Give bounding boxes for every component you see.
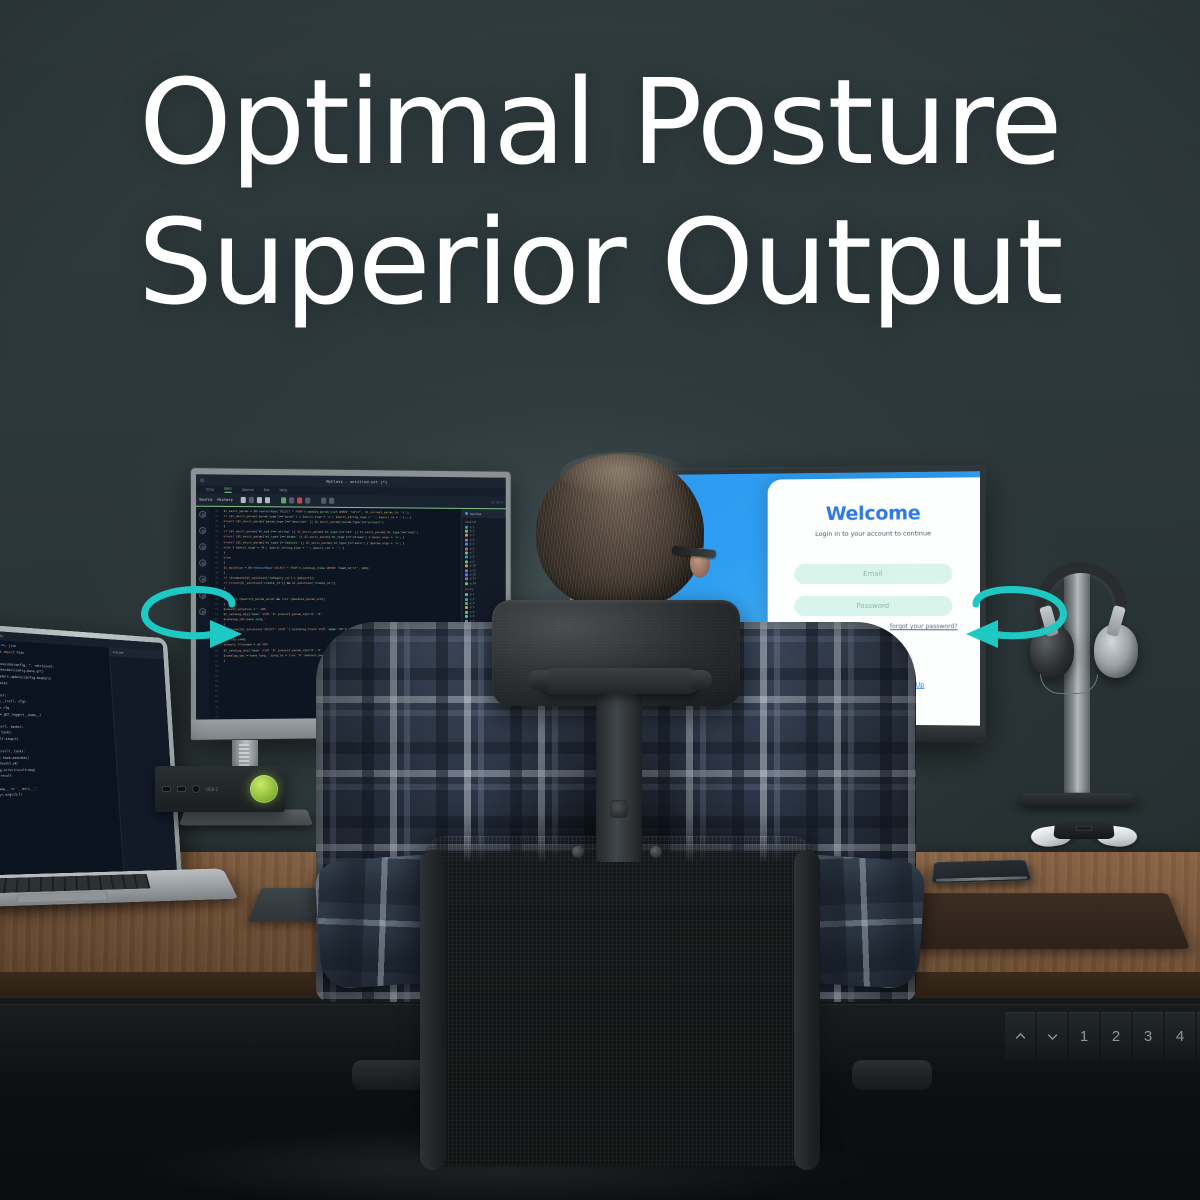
chevron-up-icon <box>1013 1029 1028 1044</box>
patch-color-swatch <box>465 547 468 550</box>
patch-label: p_10 <box>470 565 476 568</box>
headline-line-2: Superior Output <box>0 192 1200 332</box>
patch-color-swatch <box>465 611 468 614</box>
laptop-keyboard[interactable] <box>0 874 150 894</box>
search-icon[interactable] <box>199 543 206 550</box>
ide-menu-file[interactable]: File <box>206 488 214 492</box>
step-over-icon[interactable] <box>321 498 326 504</box>
desk-preset-2[interactable]: 2 <box>1101 1012 1131 1060</box>
ide-menu-run[interactable]: Run <box>264 488 270 492</box>
patch-color-swatch <box>465 565 468 568</box>
desk-down-button[interactable] <box>1037 1012 1067 1060</box>
patch-label: p_1 <box>470 526 474 529</box>
patches-list-general[interactable]: p_1p_2p_3p_4p_5p_6p_7p_8p_9p_10p_11p_12p… <box>462 525 506 586</box>
patch-color-swatch <box>465 539 468 542</box>
patch-label: p_6 <box>470 615 474 618</box>
patch-color-swatch <box>465 530 468 533</box>
dock-label: USB-C <box>206 787 218 792</box>
profile-icon[interactable] <box>305 498 310 504</box>
chair-frame-right <box>794 850 820 1170</box>
patch-label: p_11 <box>470 569 476 572</box>
chair-headrest-stem[interactable] <box>596 690 642 862</box>
patch-color-swatch <box>465 534 468 537</box>
chair-armrest-right[interactable] <box>852 1060 932 1090</box>
patch-label: p_8 <box>470 556 474 559</box>
login-title: Welcome <box>826 502 921 525</box>
ide-menu-edit[interactable]: Edit <box>224 487 232 493</box>
run-icon[interactable] <box>281 497 286 503</box>
patch-label: p_3 <box>470 534 474 537</box>
ide-window-title: MyClass - untitled.ext [*] <box>326 479 387 484</box>
patch-label: p_2 <box>470 598 474 601</box>
chair-headrest-bar[interactable] <box>540 668 700 694</box>
person-hair-highlight <box>560 452 686 496</box>
audio-jack-icon[interactable] <box>192 785 200 793</box>
laptop-window-title: main.py — code <box>0 632 3 638</box>
patch-color-swatch <box>465 525 468 528</box>
patch-color-swatch <box>465 606 468 609</box>
desk-preset-3[interactable]: 3 <box>1133 1012 1163 1060</box>
patch-label: p_5 <box>470 611 474 614</box>
email-field[interactable]: Email <box>794 564 952 585</box>
desk-preset-1[interactable]: 1 <box>1069 1012 1099 1060</box>
patch-label: p_4 <box>470 606 474 609</box>
curved-arrow-right-icon <box>128 578 252 650</box>
ide-version-label: v2.19.3 <box>491 500 503 504</box>
ide-editor-tabs[interactable]: Source History <box>199 498 233 502</box>
product-hero-image: Optimal Posture Superior Output MyClass … <box>0 0 1200 1200</box>
controller-touchpad[interactable] <box>1076 826 1092 831</box>
laptop-lid: main.py — code import sys, os, jsonfrom … <box>0 623 182 895</box>
patch-label: p_13 <box>470 578 476 581</box>
laptop-editor-body: import sys, os, jsonfrom pathlib import … <box>0 639 177 890</box>
stop-icon[interactable] <box>297 497 302 503</box>
ide-menu-source[interactable]: Source <box>242 488 254 492</box>
usb-dock[interactable]: USB-C <box>155 766 285 812</box>
save-icon[interactable] <box>241 497 246 503</box>
tab-source[interactable]: Source <box>199 498 212 502</box>
laptop-code-area[interactable]: import sys, os, jsonfrom pathlib import … <box>0 639 124 890</box>
chair-frame-left <box>420 850 446 1170</box>
patch-color-swatch <box>465 578 468 581</box>
chevron-down-icon <box>1045 1029 1060 1044</box>
patch-label: p_2 <box>470 530 474 533</box>
patch-color-swatch <box>465 593 468 596</box>
chair-bolt <box>572 846 584 858</box>
patch-label: p_3 <box>470 602 474 605</box>
chair-mesh-backrest <box>424 836 814 1166</box>
patches-section-dirty: Dirty <box>462 586 506 593</box>
patch-label: p_14 <box>470 582 476 585</box>
patches-panel-header: Patches <box>462 509 506 518</box>
patch-label: p_4 <box>470 539 474 542</box>
home-icon[interactable] <box>199 527 206 534</box>
dock-volume-dial[interactable] <box>250 775 278 803</box>
patch-color-swatch <box>465 582 468 585</box>
desk-preset-4[interactable]: 4 <box>1165 1012 1195 1060</box>
laptop-trackpad[interactable] <box>16 891 108 903</box>
annotation-arrow-left <box>128 578 252 650</box>
desk-up-button[interactable] <box>1005 1012 1035 1060</box>
chair-adjust-knob-right[interactable] <box>688 670 712 690</box>
patch-label: p_6 <box>470 547 474 550</box>
headline-line-1: Optimal Posture <box>0 52 1200 192</box>
forgot-password-link[interactable]: forgot your password? <box>890 623 958 630</box>
patches-panel-title: Patches <box>470 511 481 515</box>
patch-label: p_1 <box>470 593 474 596</box>
chair-bolt <box>650 846 662 858</box>
chair-height-release-button[interactable] <box>610 800 628 818</box>
patch-label: p_12 <box>470 573 476 576</box>
patch-label: p_9 <box>470 560 474 563</box>
patch-label: p_5 <box>470 543 474 546</box>
patch-color-swatch <box>465 615 468 618</box>
annotation-arrow-right <box>956 578 1080 650</box>
patch-color-swatch <box>465 552 468 555</box>
debug-icon[interactable] <box>289 497 294 503</box>
game-controller[interactable] <box>1029 819 1138 847</box>
files-icon[interactable] <box>199 511 206 518</box>
page-title: Optimal Posture Superior Output <box>0 52 1200 333</box>
clean-icon[interactable] <box>265 497 270 503</box>
patch-color-swatch <box>465 573 468 576</box>
password-field[interactable]: Password <box>794 596 952 616</box>
patch-color-swatch <box>465 560 468 563</box>
patch-color-swatch <box>465 602 468 605</box>
patch-color-swatch <box>465 543 468 546</box>
wrench-icon[interactable] <box>249 497 254 503</box>
ide-menu-help[interactable]: Help <box>280 488 288 492</box>
chair-adjust-knob-left[interactable] <box>528 670 552 690</box>
desk-height-controller[interactable]: 1 2 3 4 5 <box>1003 1010 1200 1062</box>
laptop-screen: main.py — code import sys, os, jsonfrom … <box>0 629 177 889</box>
build-icon[interactable] <box>257 497 262 503</box>
usb-port-icon[interactable] <box>177 786 186 792</box>
laptop-outline-title: OUTLINE <box>113 650 124 654</box>
smartphone[interactable] <box>931 860 1032 884</box>
patch-color-swatch <box>465 556 468 559</box>
code-line: main(sys.argv[1:]) <box>0 790 115 799</box>
tab-history[interactable]: History <box>217 498 232 502</box>
patch-color-swatch <box>465 598 468 601</box>
window-icon <box>200 478 204 482</box>
patch-label: p_7 <box>470 552 474 555</box>
curved-arrow-left-icon <box>956 578 1080 650</box>
login-subtitle: Login in to your account to continue <box>815 529 931 538</box>
step-into-icon[interactable] <box>329 498 334 504</box>
database-icon[interactable] <box>199 559 206 566</box>
usb-port-icon[interactable] <box>162 786 171 792</box>
patch-color-swatch <box>465 569 468 572</box>
patch-icon <box>465 512 468 515</box>
